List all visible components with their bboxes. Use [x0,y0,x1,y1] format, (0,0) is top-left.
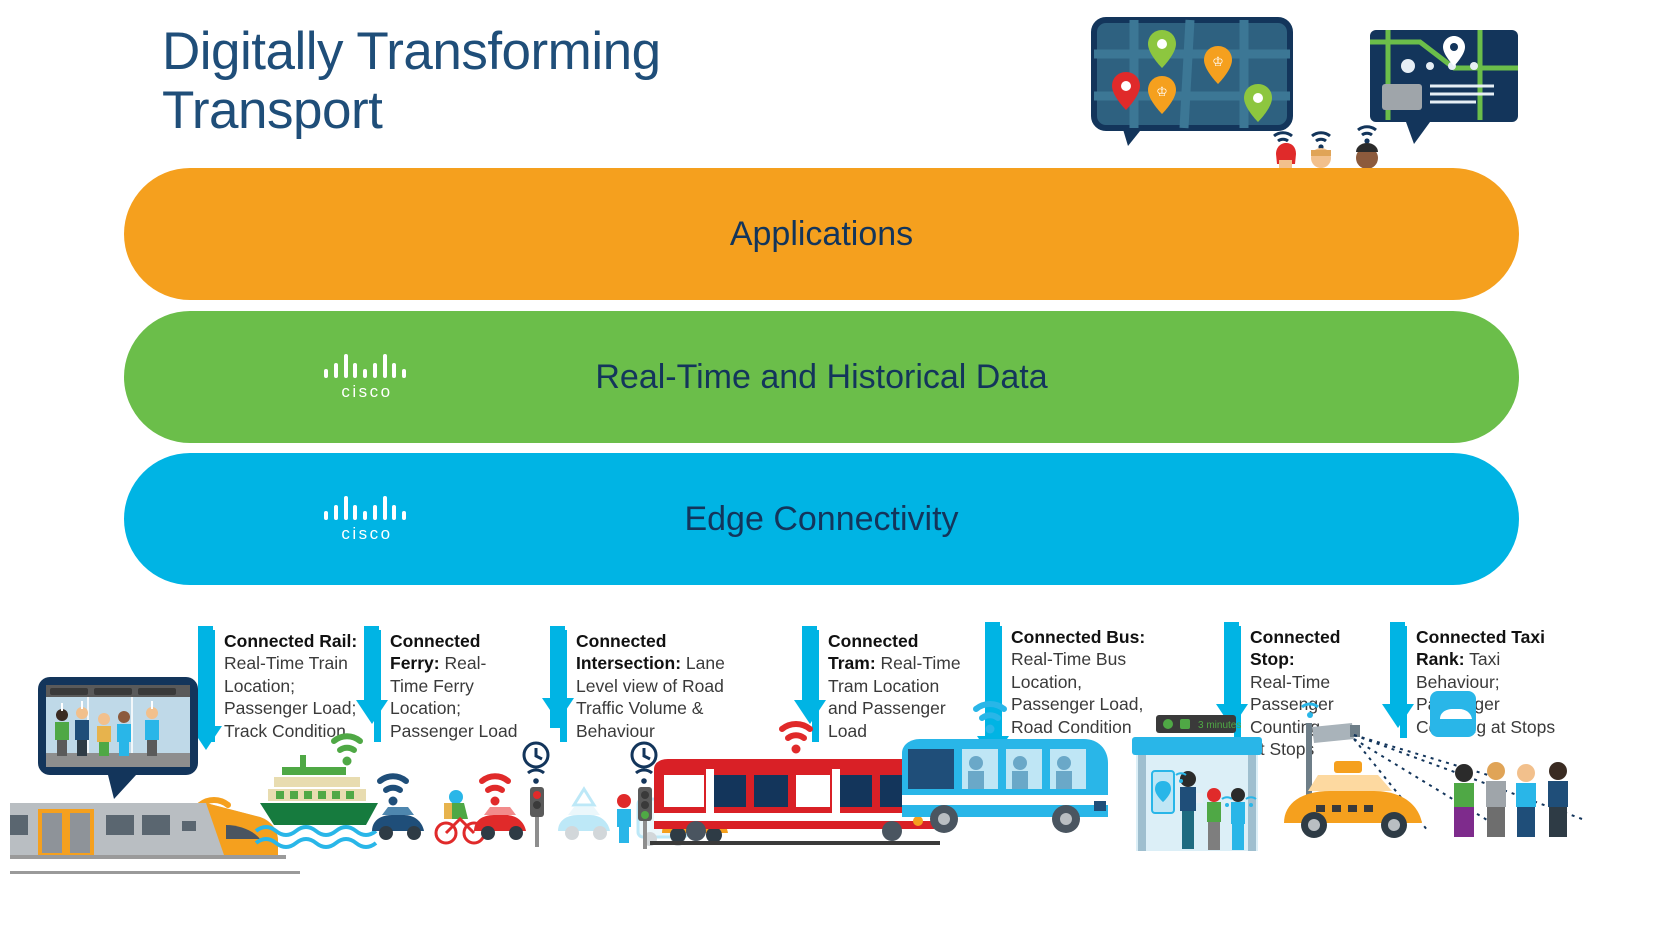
cisco-logo: cisco [324,494,410,544]
svg-text:♔: ♔ [1156,84,1168,99]
layer-label-edge: Edge Connectivity [684,500,958,539]
taxi-rank-illustration [1282,691,1672,851]
tram-illustration [650,725,940,855]
water [256,827,376,847]
car [372,807,424,840]
taxi-queue-passengers [1454,762,1568,837]
layer-label-data: Real-Time and Historical Data [595,358,1047,397]
page-title: Digitally Transforming Transport [162,22,862,141]
wifi-icon [1358,127,1376,144]
bus-stop-eta: 3 minutes [1198,720,1241,731]
train-screen-tags [50,688,176,695]
traffic-light [524,743,548,847]
wifi-icon [334,736,360,765]
svg-text:♔: ♔ [1212,54,1224,69]
wifi-icon [782,724,810,754]
wifi-icon [1312,133,1330,150]
layer-bar-data[interactable]: cisco Real-Time and Historical Data [124,311,1519,443]
ferry-illustration [254,733,384,853]
cyclist [436,790,484,843]
clock-icon [524,743,548,767]
taxi-sign-icon [1430,691,1476,737]
bus-body [902,739,1108,833]
taxi [1284,761,1422,838]
layer-label-applications: Applications [730,215,913,254]
wifi-icon [528,770,544,784]
wifi-icon [380,776,406,805]
cisco-logo: cisco [324,352,410,402]
train-interior-bubble [38,677,198,799]
wifi-icon [482,776,508,805]
wifi-icon [976,704,1004,734]
bus-stop-illustration: 3 minutes [1112,713,1282,858]
cisco-bridge-icon [324,352,406,378]
bus-illustration [898,705,1128,855]
cisco-wordmark: cisco [324,524,410,544]
ghost-car [558,789,610,840]
wifi-icon [1302,704,1318,718]
bus-stop-sign: 3 minutes [1156,715,1241,733]
cisco-wordmark: cisco [324,382,410,402]
tram-body [654,759,934,841]
layer-bar-edge[interactable]: cisco Edge Connectivity [124,453,1519,585]
car [474,807,526,840]
cisco-bridge-icon [324,494,406,520]
layer-bar-applications[interactable]: Applications [124,168,1519,300]
transport-scene: 3 minutes [0,585,1675,944]
ferry-body [260,755,378,825]
train-body [10,803,278,855]
